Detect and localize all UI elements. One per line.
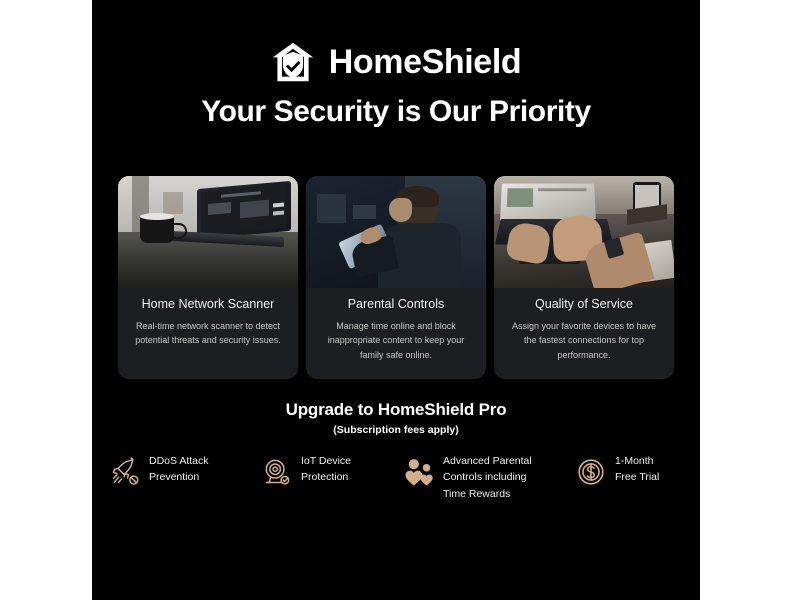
- pro-feature-advanced-parental-controls: Advanced Parental Controls including Tim…: [404, 452, 576, 502]
- brand-name: HomeShield: [329, 45, 521, 79]
- feature-card-row: Home Network Scanner Real-time network s…: [118, 176, 674, 379]
- pro-feature-iot-device-protection: IoT Device Protection: [262, 452, 404, 486]
- brand-header: HomeShield: [92, 40, 700, 84]
- parent-and-child-icon: [404, 454, 434, 486]
- rocket-blocked-ddos-icon: [110, 454, 140, 486]
- card-title: Parental Controls: [317, 297, 475, 313]
- feature-card-home-network-scanner[interactable]: Home Network Scanner Real-time network s…: [118, 176, 298, 379]
- pro-feature-label: DDoS Attack Prevention: [149, 452, 209, 486]
- pro-feature-row: DDoS Attack Prevention IoT Device Protec…: [110, 452, 690, 502]
- card-body: Home Network Scanner Real-time network s…: [118, 288, 298, 364]
- feature-card-parental-controls[interactable]: Parental Controls Manage time online and…: [306, 176, 486, 379]
- card-description: Real-time network scanner to detect pote…: [129, 319, 287, 349]
- home-shield-check-icon: [271, 40, 315, 84]
- pro-feature-label: 1-Month Free Trial: [615, 452, 659, 486]
- dollar-circle-icon: [576, 454, 606, 486]
- pro-feature-one-month-free-trial: 1-Month Free Trial: [576, 452, 686, 486]
- card-title: Home Network Scanner: [129, 297, 287, 313]
- card-description: Manage time online and block inappropria…: [317, 319, 475, 364]
- card-body: Parental Controls Manage time online and…: [306, 288, 486, 379]
- pro-upgrade-heading: Upgrade to HomeShield Pro: [92, 400, 700, 420]
- promo-panel: HomeShield Your Security is Our Priority…: [92, 0, 700, 600]
- ip-camera-check-icon: [262, 454, 292, 486]
- page-tagline: Your Security is Our Priority: [92, 95, 700, 129]
- card-image-child-tablet: [306, 176, 486, 288]
- card-image-hands-typing: [494, 176, 674, 288]
- card-body: Quality of Service Assign your favorite …: [494, 288, 674, 379]
- feature-card-quality-of-service[interactable]: Quality of Service Assign your favorite …: [494, 176, 674, 379]
- card-title: Quality of Service: [505, 297, 663, 313]
- pro-feature-label: IoT Device Protection: [301, 452, 351, 486]
- pro-feature-ddos-attack-prevention: DDoS Attack Prevention: [110, 452, 262, 486]
- screenshot-stage: HomeShield Your Security is Our Priority…: [0, 0, 800, 600]
- card-image-laptop-desk: [118, 176, 298, 288]
- card-description: Assign your favorite devices to have the…: [505, 319, 663, 364]
- pro-feature-label: Advanced Parental Controls including Tim…: [443, 452, 532, 502]
- pro-subscription-note: (Subscription fees apply): [92, 424, 700, 436]
